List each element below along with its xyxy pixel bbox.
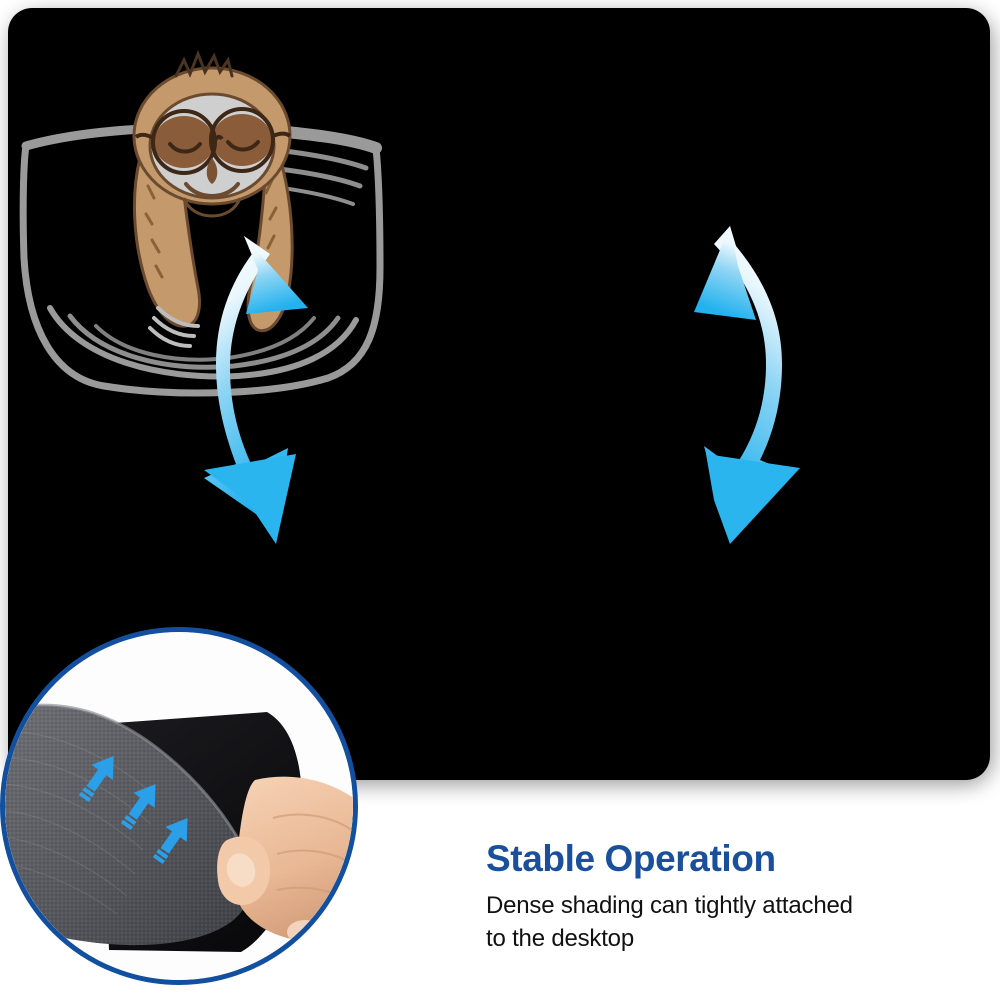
underside-closeup-inset <box>0 627 358 985</box>
curved-down-arrow-right-icon <box>694 226 800 544</box>
body-line-1: Dense shading can tightly attached <box>486 889 956 922</box>
feature-copy: Stable Operation Dense shading can tight… <box>486 840 956 955</box>
headline: Stable Operation <box>486 840 956 879</box>
inset-illustration <box>5 632 353 980</box>
inset-ring-border <box>0 627 358 985</box>
body-line-2: to the desktop <box>486 922 956 955</box>
inset-photo <box>5 632 353 980</box>
product-feature-image: Stable Operation Dense shading can tight… <box>0 0 1000 1002</box>
